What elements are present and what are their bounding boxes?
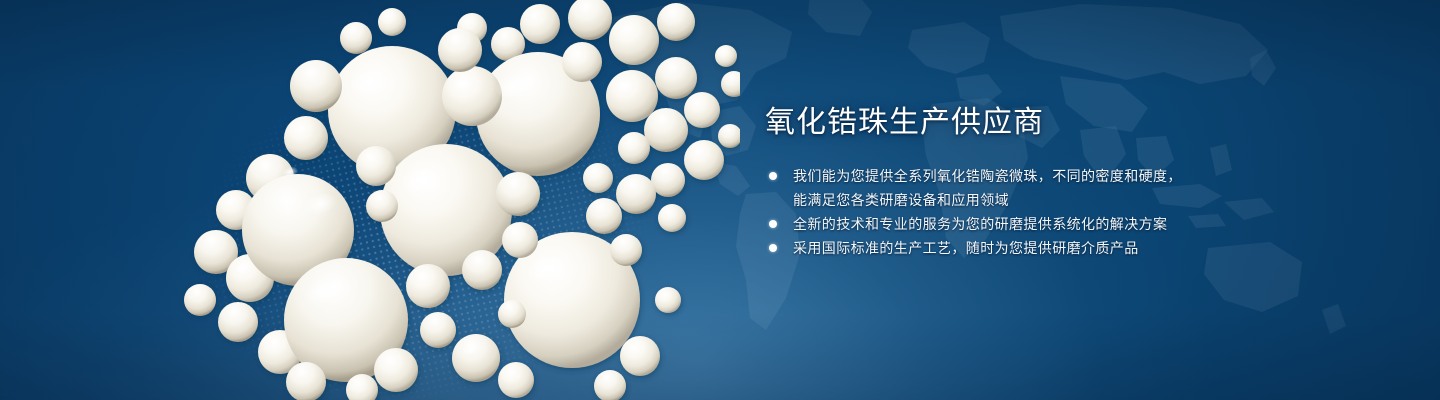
bullet-dot-icon	[769, 220, 777, 228]
list-item: 采用国际标准的生产工艺，随时为您提供研磨介质产品	[765, 236, 1225, 260]
list-item-line1: 采用国际标准的生产工艺，随时为您提供研磨介质产品	[793, 240, 1139, 256]
list-item: 全新的技术和专业的服务为您的研磨提供系统化的解决方案	[765, 212, 1225, 236]
bullet-dot-icon	[769, 244, 777, 252]
feature-list: 我们能为您提供全系列氧化锆陶瓷微珠，不同的密度和硬度， 能满足您各类研磨设备和应…	[765, 164, 1225, 260]
page-title: 氧化锆珠生产供应商	[765, 104, 1225, 142]
list-item-line1: 我们能为您提供全系列氧化锆陶瓷微珠，不同的密度和硬度，	[793, 168, 1182, 184]
list-item-line1: 全新的技术和专业的服务为您的研磨提供系统化的解决方案	[793, 216, 1167, 232]
banner-copy: 氧化锆珠生产供应商 我们能为您提供全系列氧化锆陶瓷微珠，不同的密度和硬度， 能满…	[765, 104, 1225, 260]
hero-banner: 氧化锆珠生产供应商 我们能为您提供全系列氧化锆陶瓷微珠，不同的密度和硬度， 能满…	[0, 0, 1440, 400]
bullet-dot-icon	[769, 172, 777, 180]
zirconia-beads-photo	[120, 0, 740, 400]
list-item: 我们能为您提供全系列氧化锆陶瓷微珠，不同的密度和硬度， 能满足您各类研磨设备和应…	[765, 164, 1225, 212]
list-item-line2: 能满足您各类研磨设备和应用领域	[793, 188, 1225, 212]
